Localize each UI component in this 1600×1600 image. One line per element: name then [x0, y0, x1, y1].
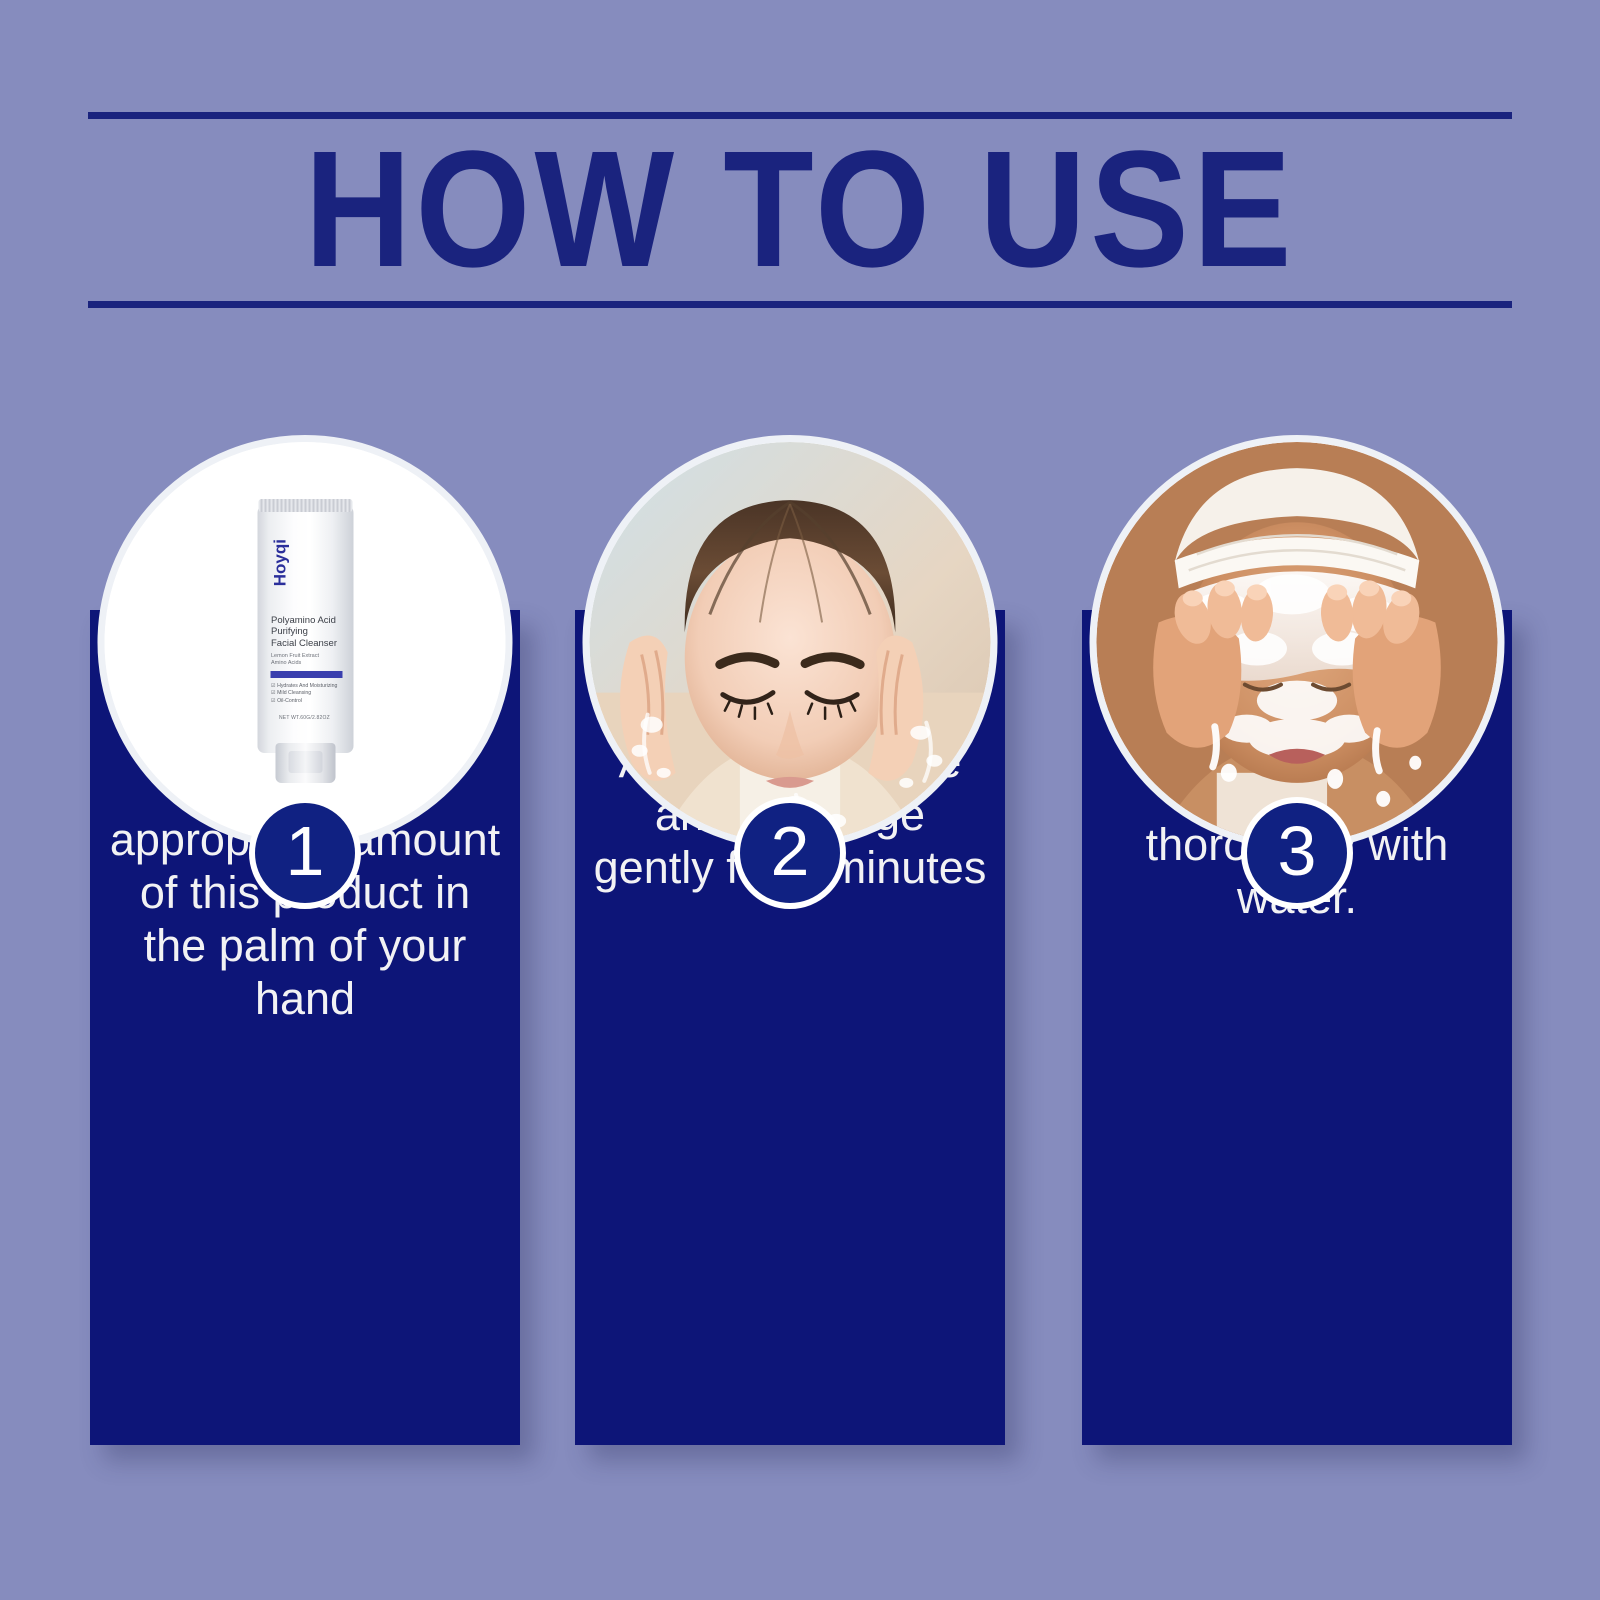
product-subtitle: Lemon Fruit Extract Amino Acids: [271, 653, 343, 668]
step-number-badge-2: 2: [734, 797, 846, 909]
product-subtitle-line-2: Amino Acids: [271, 660, 343, 667]
step-card-1: Take an appropriate amount of this produ…: [90, 435, 520, 1445]
step-photo-1: Hoyqi Polyamino Acid Purifying Facial Cl…: [98, 435, 513, 850]
woman-splashing-water-photo: [590, 442, 991, 843]
product-accent-bar: [270, 671, 342, 678]
rinsing-foam-photo: [1097, 442, 1498, 843]
step-number-2: 2: [771, 816, 810, 886]
washing-face-illustration: [590, 442, 991, 843]
product-benefits-list: ☑ Hydrates And Moisturizing ☑ Mild Clean…: [271, 683, 345, 706]
step-number-badge-3: 3: [1241, 797, 1353, 909]
product-benefit-1: ☑ Hydrates And Moisturizing: [271, 683, 345, 691]
product-name-label: Polyamino Acid Purifying Facial Cleanser: [271, 615, 343, 651]
product-subtitle-line-1: Lemon Fruit Extract: [271, 653, 343, 660]
step-card-2: Apply to wet face and massage gently for…: [575, 435, 1005, 1445]
step-photo-2: [583, 435, 998, 850]
product-benefit-3: ☑ Oil-Control: [271, 698, 345, 706]
step-number-1: 1: [286, 816, 325, 886]
steps-container: Take an appropriate amount of this produ…: [0, 0, 1600, 1600]
step-photo-3: [1090, 435, 1505, 850]
product-name-line-1: Polyamino Acid: [271, 615, 343, 627]
foam-rinse-illustration: [1097, 442, 1498, 843]
product-name-line-3: Facial Cleanser: [271, 638, 343, 650]
product-benefit-2: ☑ Mild Cleansing: [271, 690, 345, 698]
product-tube-illustration: Hoyqi Polyamino Acid Purifying Facial Cl…: [257, 487, 353, 783]
step-number-badge-1: 1: [249, 797, 361, 909]
product-brand-label: Hoyqi: [271, 539, 288, 586]
step-number-3: 3: [1278, 816, 1317, 886]
product-tube-photo: Hoyqi Polyamino Acid Purifying Facial Cl…: [105, 442, 506, 843]
product-name-line-2: Purifying: [271, 626, 343, 638]
product-net-weight: NET WT.60G/2.82OZ: [279, 715, 330, 721]
step-card-3: Finally, rinse thoroughly with water.: [1082, 435, 1512, 1445]
